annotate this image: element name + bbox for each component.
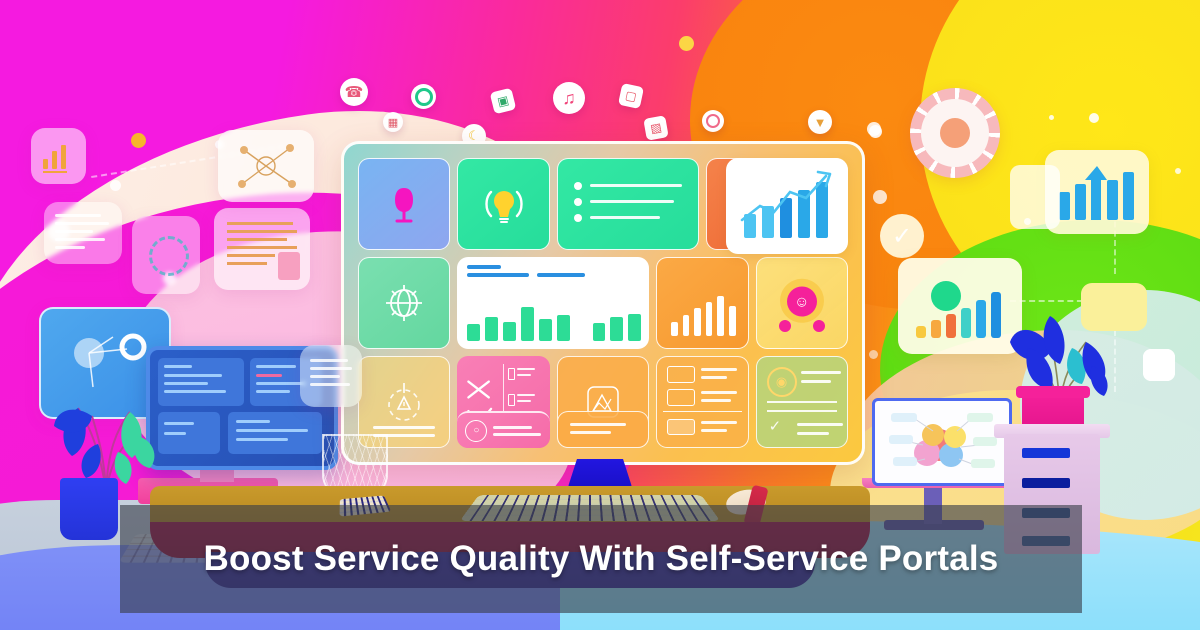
decor-dot <box>110 180 121 191</box>
report-chart-bars <box>467 297 641 341</box>
funnel-icon[interactable]: ▼ <box>808 110 832 134</box>
chart-bar <box>729 306 736 336</box>
globe-target-icon <box>380 279 428 327</box>
tile-chat-history[interactable]: ○ <box>457 411 549 448</box>
decor-dot <box>867 122 881 136</box>
right-dial <box>910 88 1000 178</box>
decor-dot <box>1089 113 1099 123</box>
camera-icon[interactable]: ▢ <box>618 83 644 109</box>
chart-bar <box>539 319 552 341</box>
microphone-icon <box>383 182 425 226</box>
smiley-avatar-icon: ☺ <box>787 287 817 317</box>
decor-dot <box>1049 115 1054 120</box>
left-edge-card <box>1010 165 1060 229</box>
right-check-badge: ✓ <box>880 214 924 258</box>
ring-icon[interactable] <box>411 84 436 109</box>
mindmap-diagram-icon <box>875 401 1009 483</box>
chart-bar <box>485 317 498 341</box>
photo-icon[interactable]: ▦ <box>383 112 403 132</box>
warning-gauge-icon <box>377 379 431 425</box>
monitor-stand-neck <box>568 459 632 487</box>
tile-metrics-bars[interactable] <box>656 257 748 349</box>
chart-bar <box>610 317 623 341</box>
left-document-card <box>214 208 310 290</box>
lightbulb-icon <box>478 182 530 226</box>
chart-bar <box>521 307 534 341</box>
right-text-card <box>300 345 362 407</box>
tile-article-cards[interactable] <box>656 356 748 448</box>
page-title: Boost Service Quality With Self-Service … <box>204 539 999 580</box>
decor-dot <box>1175 168 1181 174</box>
tile-knowledge-ideas[interactable] <box>457 158 549 250</box>
chart-bar <box>717 296 724 336</box>
chart-bar <box>706 302 713 336</box>
tile-global-reach[interactable] <box>358 257 450 349</box>
left-plant-pot <box>60 478 118 540</box>
chart-bar <box>671 322 678 336</box>
network-nodes-icon <box>218 130 314 202</box>
tile-user-profile[interactable]: ☺ <box>756 257 848 349</box>
title-banner: Boost Service Quality With Self-Service … <box>120 505 1082 613</box>
illustration-canvas: ☎ ▦ ☾ ▣ ♫ ▢ ▧ ▼ <box>0 0 1200 630</box>
decor-dot <box>869 350 878 359</box>
chat-bubble-icon: ○ <box>465 420 487 442</box>
tile-report-chart[interactable] <box>457 257 649 349</box>
laptop[interactable] <box>872 398 1012 486</box>
chart-bar <box>593 323 606 341</box>
check-icon: ✓ <box>769 419 782 434</box>
growth-bars-icon <box>1045 150 1149 234</box>
chart-bar <box>628 314 641 341</box>
tile-ticket-list[interactable] <box>557 158 699 250</box>
right-white-tile <box>1143 349 1175 381</box>
left-network-card <box>218 130 314 202</box>
main-monitor[interactable]: ☺ <box>341 141 865 465</box>
ring-icon[interactable] <box>702 110 724 132</box>
music-note-icon[interactable]: ♫ <box>553 82 585 114</box>
left-text-card <box>44 202 122 264</box>
decor-dot <box>131 133 146 148</box>
metrics-bars-chart <box>671 290 735 336</box>
checkmark-target-icon: ◉ <box>767 367 797 397</box>
tile-notes-list[interactable] <box>557 411 649 448</box>
chart-bar <box>683 315 690 336</box>
calendar-icon[interactable]: ▧ <box>643 115 668 140</box>
phone-icon[interactable]: ☎ <box>340 78 368 106</box>
chart-bar <box>557 315 570 341</box>
left-chart-card <box>31 128 86 184</box>
chart-bar <box>694 308 701 336</box>
spinner-icon <box>149 236 189 276</box>
decor-dot <box>679 36 694 51</box>
growth-analytics-card[interactable] <box>726 158 848 254</box>
tile-resolved-tasks[interactable]: ◉ ✓ <box>756 356 848 448</box>
chart-bar <box>503 322 516 341</box>
left-loading-card <box>132 216 200 294</box>
right-plant-pot-rim <box>1016 386 1090 398</box>
right-growth-card <box>1045 150 1149 234</box>
tile-voice-assistant[interactable] <box>358 158 450 250</box>
chart-bar <box>467 324 480 341</box>
decor-dot <box>873 190 887 204</box>
growth-chart-icon <box>726 158 848 254</box>
